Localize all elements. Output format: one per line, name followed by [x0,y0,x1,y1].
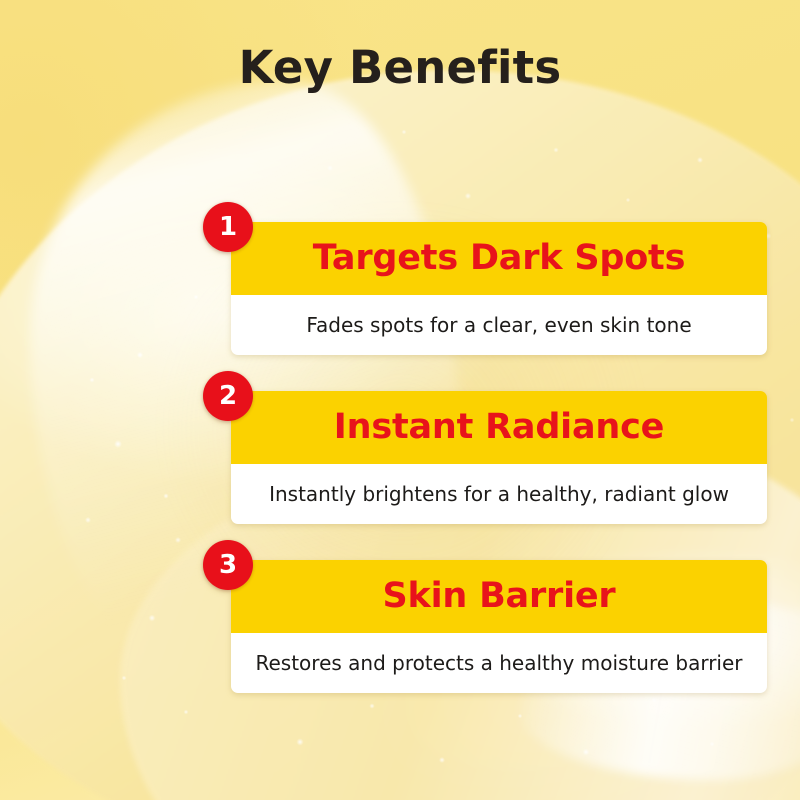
poster-content: Key Benefits 1 Targets Dark Spots Fades … [0,0,800,800]
benefits-list: 1 Targets Dark Spots Fades spots for a c… [231,222,767,693]
benefit-description-3: Restores and protects a healthy moisture… [243,652,754,675]
benefit-card-1: 1 Targets Dark Spots Fades spots for a c… [231,222,767,355]
benefit-header-band-3: Skin Barrier [231,560,767,633]
benefit-number-badge-3: 3 [203,540,253,590]
benefit-body-band-1: Fades spots for a clear, even skin tone [231,295,767,355]
benefit-number-badge-2: 2 [203,371,253,421]
benefit-number-1: 1 [219,214,237,240]
benefit-header-band-2: Instant Radiance [231,391,767,464]
benefit-card-3: 3 Skin Barrier Restores and protects a h… [231,560,767,693]
benefit-number-badge-1: 1 [203,202,253,252]
key-benefits-poster: Key Benefits 1 Targets Dark Spots Fades … [0,0,800,800]
benefit-title-3: Skin Barrier [369,579,630,614]
page-title: Key Benefits [0,44,800,91]
benefit-number-2: 2 [219,383,237,409]
benefit-description-1: Fades spots for a clear, even skin tone [294,314,703,337]
benefit-header-band-1: Targets Dark Spots [231,222,767,295]
benefit-title-1: Targets Dark Spots [299,241,699,276]
benefit-body-band-3: Restores and protects a healthy moisture… [231,633,767,693]
benefit-card-2: 2 Instant Radiance Instantly brightens f… [231,391,767,524]
benefit-title-2: Instant Radiance [320,410,678,445]
benefit-body-band-2: Instantly brightens for a healthy, radia… [231,464,767,524]
benefit-description-2: Instantly brightens for a healthy, radia… [257,483,741,506]
benefit-number-3: 3 [219,552,237,578]
